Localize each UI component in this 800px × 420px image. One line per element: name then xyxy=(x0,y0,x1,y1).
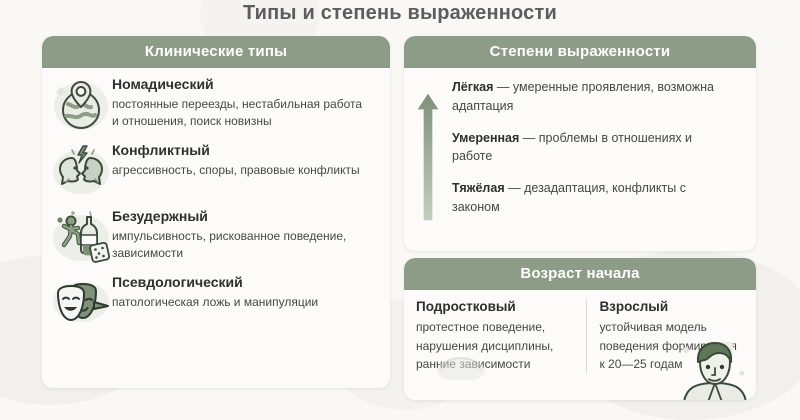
list-item-title: Псевдологический xyxy=(112,274,318,292)
arguing-heads-icon xyxy=(50,138,112,200)
age-of-onset-header: Возраст начала xyxy=(404,258,756,290)
severity-card: Степени выраженности Лёгкая — умеренные … xyxy=(404,36,756,251)
severity-label: Умеренная xyxy=(452,131,519,145)
age-column-title: Взрослый xyxy=(599,299,744,314)
age-of-onset-card: Возраст начала Подростковый протестное п… xyxy=(404,258,756,400)
list-item-desc: импульсивность, рискованное поведение, з… xyxy=(112,228,370,264)
age-column-teen: Подростковый протестное поведение, наруш… xyxy=(404,299,586,374)
list-item-title: Номадический xyxy=(112,76,370,94)
list-item: Умеренная — проблемы в отношениях и рабо… xyxy=(452,129,720,167)
list-item-desc: патологическая ложь и манипуляции xyxy=(112,294,318,312)
severity-dash: — xyxy=(523,131,536,145)
list-item-desc: агрессивность, споры, правовые конфликты xyxy=(112,162,360,180)
decorative-blob-icon xyxy=(426,346,496,380)
theatre-masks-icon xyxy=(50,270,112,332)
man-portrait-icon xyxy=(678,340,752,400)
list-item-title: Конфликтный xyxy=(112,142,360,160)
severity-dash: — xyxy=(497,80,510,94)
list-item: Псевдологический патологическая ложь и м… xyxy=(42,266,390,332)
list-item: Номадический постоянные переезды, нестаб… xyxy=(42,68,390,134)
age-column-title: Подростковый xyxy=(416,299,574,314)
globe-pin-icon xyxy=(50,72,112,134)
list-item: Тяжёлая — дезадаптация, конфликты с зако… xyxy=(452,179,720,217)
list-item: Конфликтный агрессивность, споры, правов… xyxy=(42,134,390,200)
severity-header: Степени выраженности xyxy=(404,36,756,68)
severity-label: Лёгкая xyxy=(452,80,493,94)
page-title: Типы и степень выраженности xyxy=(0,2,800,25)
clinical-types-card: Клинические типы Номадический постоянные… xyxy=(42,36,390,388)
up-arrow-icon xyxy=(404,78,452,248)
list-item-title: Безудержный xyxy=(112,208,370,226)
severity-dash: — xyxy=(508,181,521,195)
list-item: Лёгкая — умеренные проявления, возможна … xyxy=(452,78,720,116)
list-item: Безудержный импульсивность, рискованное … xyxy=(42,200,390,266)
running-bottle-dice-icon xyxy=(50,204,112,266)
severity-label: Тяжёлая xyxy=(452,181,505,195)
clinical-types-header: Клинические типы xyxy=(42,36,390,68)
list-item-desc: постоянные переезды, нестабильная работа… xyxy=(112,96,370,132)
